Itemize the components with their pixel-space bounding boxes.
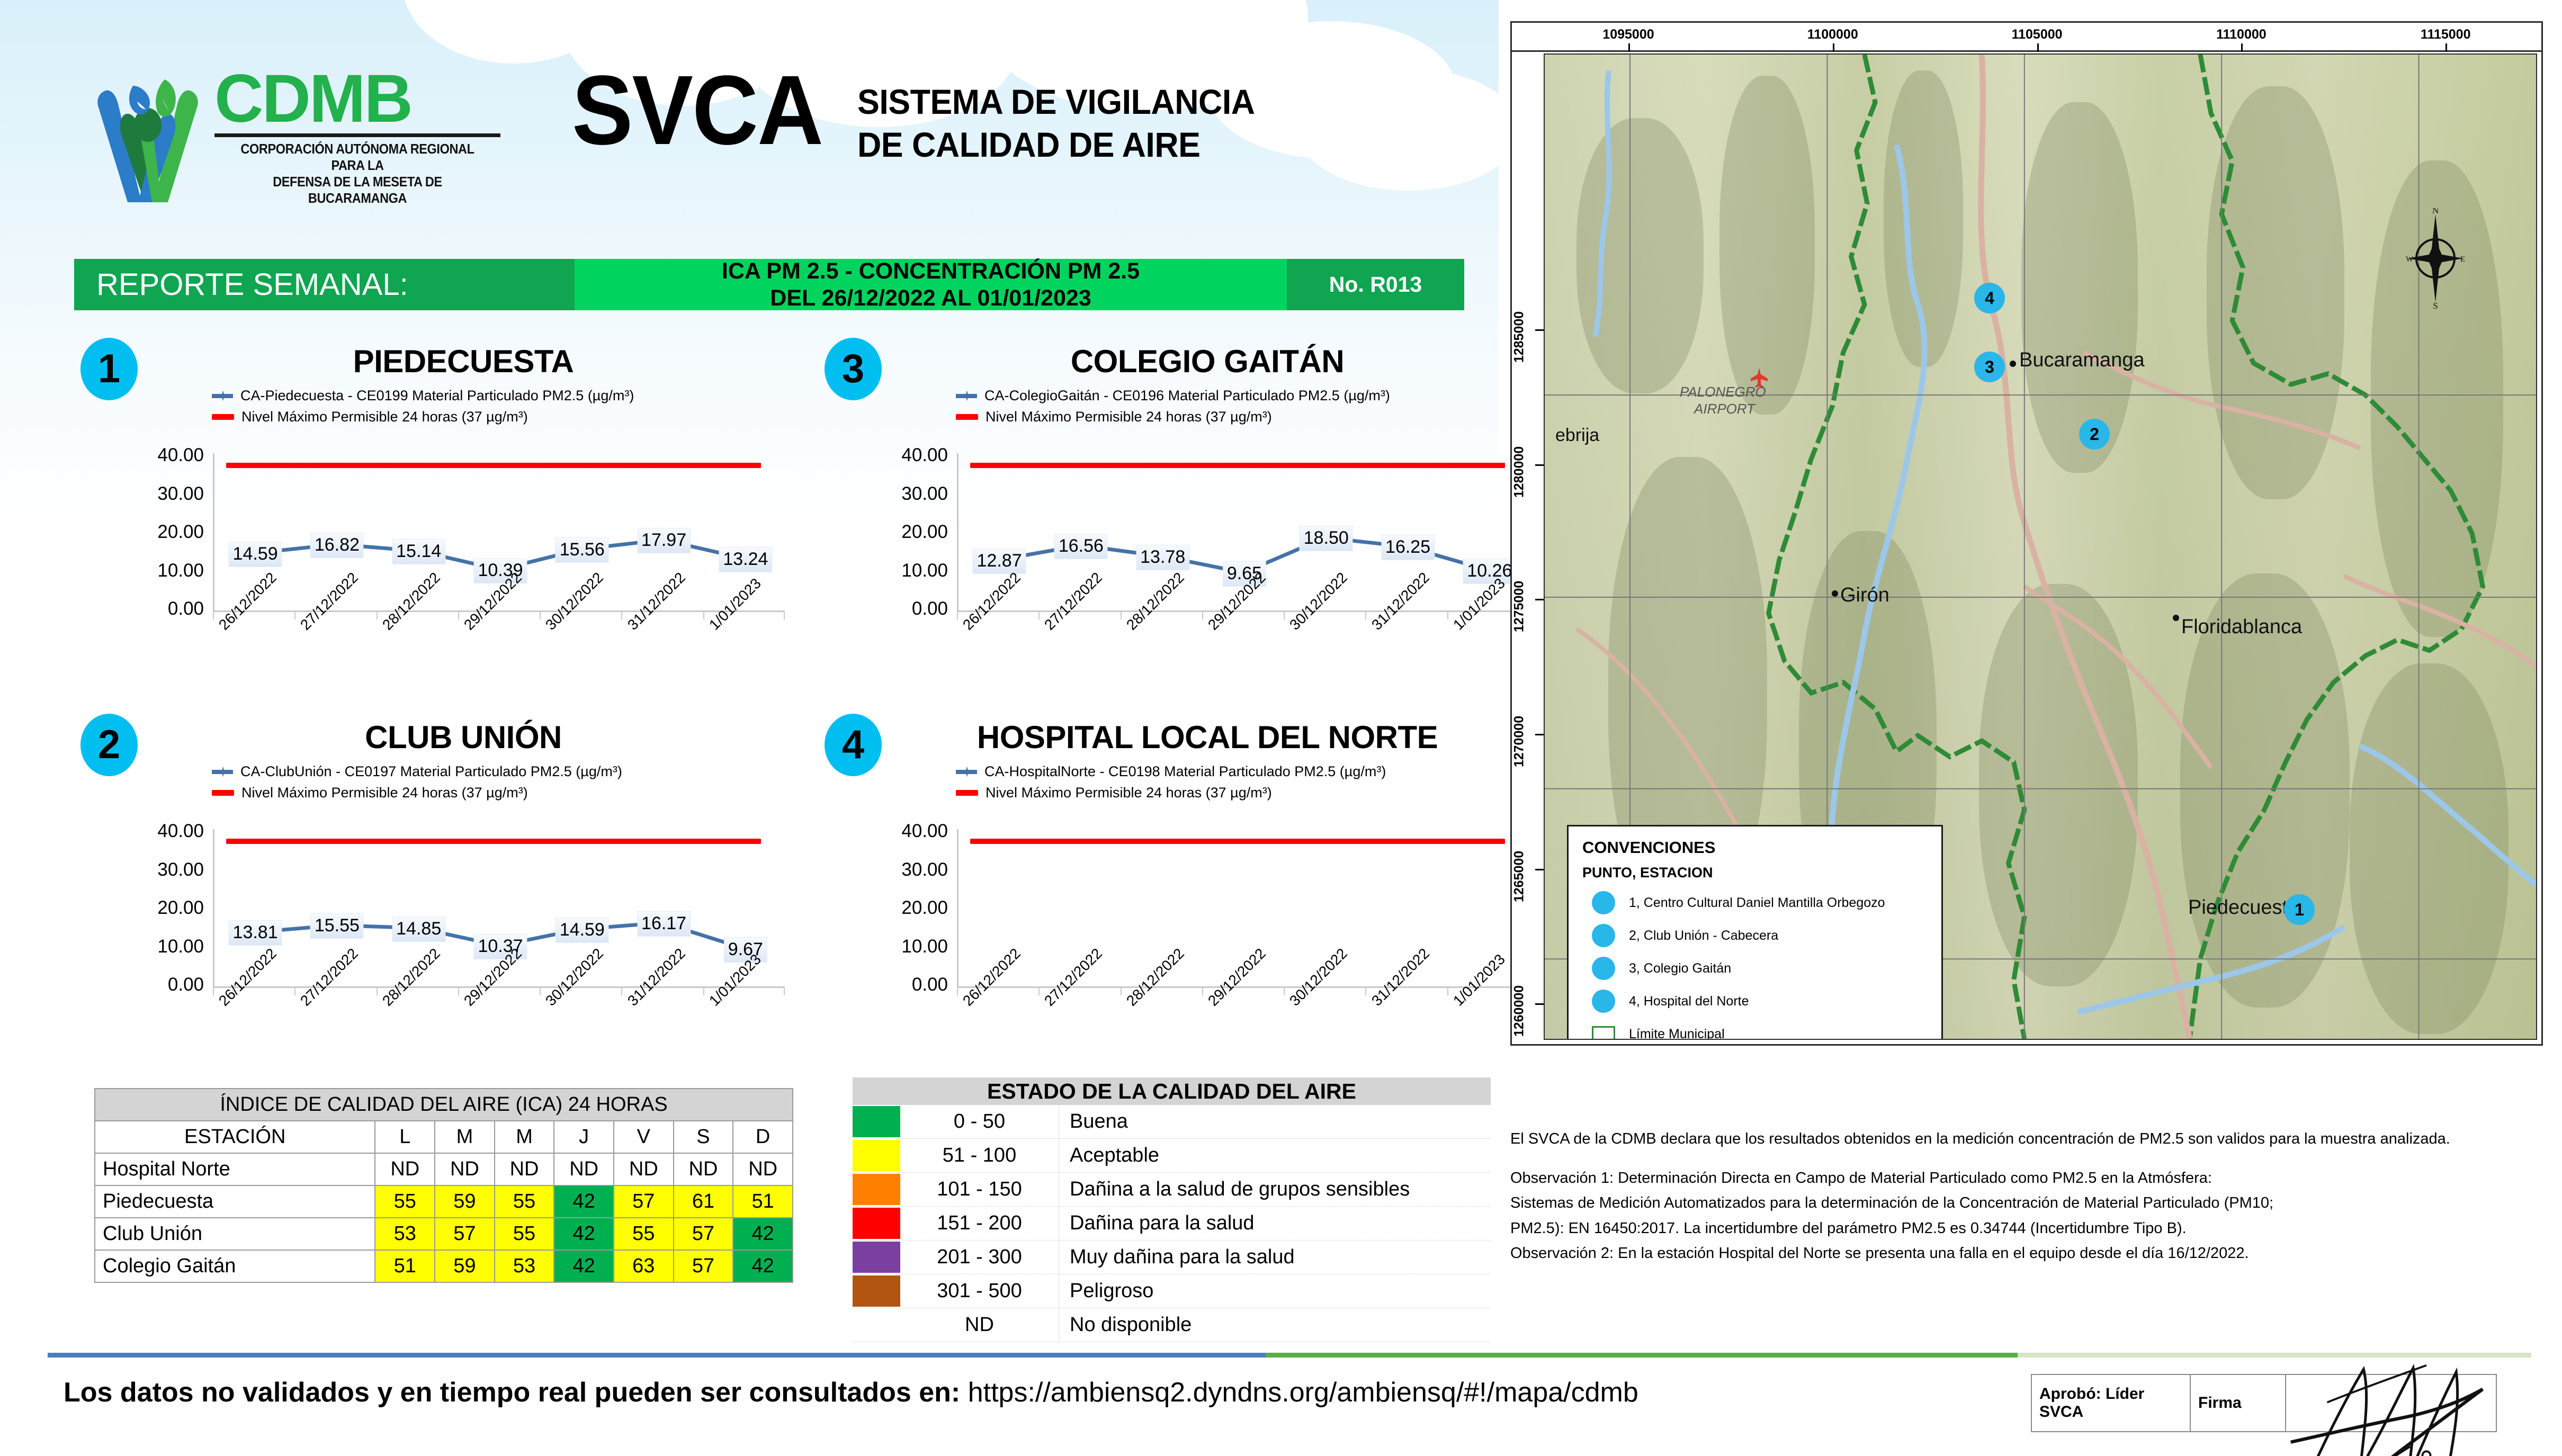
x-tick (294, 612, 295, 619)
y-tick-label: 40.00 (111, 821, 204, 842)
aq-color-swatch (853, 1309, 900, 1341)
aq-color-swatch (853, 1106, 900, 1137)
footer-note-label: Los datos no validados y en tiempo real … (64, 1377, 960, 1408)
data-label: 14.59 (556, 918, 609, 943)
logo-subtitle-line2: DEFENSA DE LA MESETA DE BUCARAMANGA (226, 174, 489, 207)
data-label: 16.17 (637, 911, 691, 937)
data-label: 16.25 (1381, 535, 1435, 560)
y-tick-label: 0.00 (111, 598, 204, 619)
ica-header-day-1: M (435, 1121, 495, 1153)
y-tick-label: 10.00 (111, 936, 204, 957)
page-header: CDMB CORPORACIÓN AUTÓNOMA REGIONAL PARA … (0, 0, 1499, 254)
observation-declaration: El SVCA de la CDMB declara que los resul… (1510, 1128, 2538, 1151)
svca-expansion-line1: SISTEMA DE VIGILANCIA (857, 80, 1255, 123)
banner-title-line1: ICA PM 2.5 - CONCENTRACIÓN PM 2.5 (722, 258, 1140, 285)
chart-y-axis-labels: 40.0030.0020.0010.000.00 (111, 821, 204, 995)
chart-legend: CA-HospitalNorte - CE0198 Material Parti… (956, 763, 1386, 806)
ica-header-day-5: S (674, 1121, 733, 1153)
map-label-piedecuesta: Piedecuesta (2188, 896, 2299, 919)
svg-text:N: N (2432, 208, 2439, 215)
map-label-bucaramanga: Bucaramanga (2019, 349, 2145, 372)
aq-range-label: 301 - 500 (900, 1274, 1059, 1308)
chart-title: HOSPITAL LOCAL DEL NORTE (903, 719, 1512, 756)
ica-cell: 42 (733, 1218, 793, 1250)
chart-y-axis-labels: 40.0030.0020.0010.000.00 (111, 445, 204, 619)
y-tick-label: 40.00 (111, 445, 204, 466)
footer-rule-blue (48, 1353, 1266, 1358)
handwritten-signature-icon (2228, 1342, 2493, 1456)
aq-legend-rows: 0 - 50Buena51 - 100Aceptable101 - 150Dañ… (853, 1105, 1491, 1342)
x-tick (1121, 612, 1122, 619)
ica-header-day-0: L (375, 1121, 435, 1153)
svca-expansion: SISTEMA DE VIGILANCIA DE CALIDAD DE AIRE (857, 80, 1255, 166)
ica-cell: 42 (554, 1185, 614, 1218)
aq-color-swatch (853, 1140, 900, 1171)
chart-title: PIEDECUESTA (159, 343, 768, 380)
ica-row-station: Piedecuesta (95, 1185, 375, 1218)
data-label: 13.81 (229, 920, 282, 946)
chart-x-axis-labels: 26/12/202227/12/202228/12/202229/12/2022… (957, 622, 1529, 696)
map-y-tick (1535, 464, 1544, 466)
banner-title: ICA PM 2.5 - CONCENTRACIÓN PM 2.5 DEL 26… (575, 259, 1287, 310)
ica-cell: 53 (375, 1218, 435, 1250)
ica-header-station: ESTACIÓN (95, 1121, 375, 1153)
chart-panel-hospital-norte: 4HOSPITAL LOCAL DEL NORTECA-HospitalNort… (813, 704, 1557, 1075)
map-y-tick-label: 1260000 (1512, 985, 1527, 1037)
chart-y-axis-labels: 40.0030.0020.0010.000.00 (855, 821, 948, 995)
map-label-palonegro: PALONEGRO (1680, 384, 1766, 400)
ica-table-body: Hospital NorteNDNDNDNDNDNDNDPiedecuesta5… (95, 1153, 793, 1282)
ica-header-day-6: D (733, 1121, 793, 1153)
ica-cell: 55 (495, 1218, 554, 1250)
chart-x-ticks (213, 988, 785, 995)
aq-range-label: 51 - 100 (900, 1139, 1059, 1172)
aq-description: Buena (1059, 1105, 1491, 1138)
map-y-tick (1535, 734, 1544, 735)
y-tick-label: 0.00 (111, 974, 204, 995)
map-x-tick (2037, 43, 2039, 52)
map-label-airport: AIRPORT (1694, 401, 1755, 417)
y-tick-label: 40.00 (855, 821, 948, 842)
map-dot-giron (1832, 590, 1838, 597)
ica-cell: ND (554, 1153, 614, 1185)
svg-text:S: S (2433, 301, 2438, 309)
legend-limit-label: Nivel Máximo Permisible 24 horas (37 µg/… (986, 409, 1272, 425)
map-legend-subtitle: PUNTO, ESTACION (1582, 865, 1941, 881)
map-x-tick (1628, 43, 1630, 52)
map-x-tick-label: 1095000 (1602, 27, 1654, 42)
x-tick (1447, 612, 1448, 619)
aq-description: Dañina a la salud de grupos sensibles (1059, 1173, 1491, 1206)
aq-description: Dañina para la salud (1059, 1207, 1491, 1240)
ica-title-row: ÍNDICE DE CALIDAD DEL AIRE (ICA) 24 HORA… (95, 1089, 793, 1121)
map-y-axis: 1285000128000012750001270000126500012600… (1512, 52, 1544, 1044)
series-marker-icon (956, 770, 977, 774)
ica-header-row: ESTACIÓNLMMJVSD (95, 1121, 793, 1153)
ica-cell: 51 (375, 1250, 435, 1282)
approver-label: Aprobó: Líder SVCA (2032, 1375, 2191, 1431)
signature-box: Aprobó: Líder SVCA Firma (2031, 1374, 2497, 1432)
svca-title-block: SVCA SISTEMA DE VIGILANCIA DE CALIDAD DE… (572, 69, 1276, 166)
ica-table-title: ÍNDICE DE CALIDAD DEL AIRE (ICA) 24 HORA… (95, 1089, 793, 1121)
table-row: Piedecuesta55595542576151 (95, 1185, 793, 1218)
legend-series-label: CA-ClubUnión - CE0197 Material Particula… (240, 763, 622, 780)
y-tick-label: 10.00 (855, 936, 948, 957)
permissible-limit-line (970, 839, 1505, 844)
ica-cell: ND (614, 1153, 674, 1185)
x-tick (1121, 988, 1122, 995)
ica-cell: 42 (733, 1250, 793, 1282)
ica-cell: 57 (674, 1250, 733, 1282)
x-tick (703, 988, 704, 995)
x-tick (784, 988, 785, 995)
x-tick (703, 612, 704, 619)
ica-row-station: Club Unión (95, 1218, 375, 1250)
x-tick (458, 988, 459, 995)
chart-badge-3: 3 (825, 338, 882, 400)
ica-header-day-2: M (495, 1121, 554, 1153)
map-x-tick-label: 1110000 (2216, 27, 2267, 42)
y-tick-label: 20.00 (111, 522, 204, 543)
table-row: Club Unión53575542555742 (95, 1218, 793, 1250)
x-tick (957, 612, 958, 619)
x-tick (294, 988, 295, 995)
map-dot-bucaramanga (2010, 361, 2016, 367)
x-tick (458, 612, 459, 619)
ica-cell: 61 (674, 1185, 733, 1218)
y-tick-label: 20.00 (111, 897, 204, 919)
map-label-giron: Girón (1840, 584, 1889, 607)
map-legend-items: 1, Centro Cultural Daniel Mantilla Orbeg… (1582, 886, 1941, 1018)
ica-cell: ND (435, 1153, 495, 1185)
map-legend-item-3: 3, Colegio Gaitán (1582, 952, 1941, 985)
x-tick (1284, 988, 1285, 995)
map-legend-title: CONVENCIONES (1582, 838, 1941, 857)
ica-cell: ND (495, 1153, 554, 1185)
ica-table-element: ÍNDICE DE CALIDAD DEL AIRE (ICA) 24 HORA… (94, 1088, 793, 1283)
aq-range-label: 0 - 50 (900, 1105, 1059, 1138)
x-tick (957, 988, 958, 995)
y-tick-label: 10.00 (111, 560, 204, 581)
observation-1-line1: Observación 1: Determinación Directa en … (1510, 1167, 2538, 1190)
y-tick-label: 30.00 (111, 859, 204, 880)
footer-note: Los datos no validados y en tiempo real … (64, 1377, 1638, 1408)
data-label: 10.26 (1463, 559, 1516, 584)
ica-header-day-4: V (614, 1121, 674, 1153)
x-tick (1447, 988, 1448, 995)
data-label: 17.97 (637, 528, 691, 553)
x-tick (1202, 612, 1203, 619)
data-label: 13.78 (1136, 545, 1189, 570)
map-x-tick-label: 1115000 (2421, 27, 2471, 42)
aq-range-label: ND (900, 1308, 1059, 1342)
y-tick-label: 30.00 (111, 483, 204, 505)
chart-plot-area: 40.0030.0020.0010.000.0013.8115.5514.851… (69, 821, 813, 1075)
ica-cell: 53 (495, 1250, 554, 1282)
map-x-tick-label: 1100000 (1807, 27, 1858, 42)
legend-row-series: CA-Piedecuesta - CE0199 Material Particu… (212, 388, 634, 404)
map-legend-item-label: 2, Club Unión - Cabecera (1629, 928, 1778, 943)
data-label: 15.56 (556, 537, 609, 563)
map-legend-conventions: CONVENCIONES PUNTO, ESTACION 1, Centro C… (1567, 825, 1943, 1040)
cdmb-logo: CDMB CORPORACIÓN AUTÓNOMA REGIONAL PARA … (82, 53, 500, 206)
y-tick-label: 20.00 (855, 897, 948, 919)
map-legend-item-label: 1, Centro Cultural Daniel Mantilla Orbeg… (1629, 895, 1885, 911)
boundary-swatch-icon (1592, 1026, 1615, 1040)
data-label: 16.82 (310, 533, 364, 558)
map-y-tick-label: 1270000 (1512, 716, 1527, 767)
ica-cell: 63 (614, 1250, 674, 1282)
ica-cell: 59 (435, 1185, 495, 1218)
y-tick-label: 0.00 (855, 598, 948, 619)
chart-legend: CA-ColegioGaitán - CE0196 Material Parti… (956, 388, 1390, 430)
footer-rule-green (1266, 1353, 2018, 1358)
map-y-tick (1535, 1003, 1544, 1005)
chart-legend: CA-ClubUnión - CE0197 Material Particula… (212, 763, 622, 806)
map-x-tick (2241, 43, 2243, 52)
chart-title: CLUB UNIÓN (159, 719, 768, 756)
banner-report-number: No. R013 (1287, 259, 1464, 310)
aq-color-swatch (853, 1242, 900, 1273)
station-dot-icon (1592, 891, 1615, 914)
station-dot-icon (1592, 990, 1615, 1013)
x-tick (1038, 612, 1040, 619)
svca-expansion-line2: DE CALIDAD DE AIRE (857, 123, 1255, 166)
series-marker-icon (212, 394, 233, 398)
cdmb-logo-text: CDMB CORPORACIÓN AUTÓNOMA REGIONAL PARA … (214, 68, 500, 207)
footer-url[interactable]: https://ambiensq2.dyndns.org/ambiensq/#!… (968, 1377, 1638, 1408)
compass-rose-icon: N S W E (2404, 208, 2467, 309)
map-pin-3[interactable]: 3 (1974, 352, 2005, 382)
footer-divider (48, 1353, 2531, 1358)
chart-x-axis-labels: 26/12/202227/12/202228/12/202229/12/2022… (957, 997, 1529, 1072)
map-label-floridablanca: Floridablanca (2181, 616, 2302, 639)
banner-report-label: REPORTE SEMANAL: (74, 259, 575, 310)
data-label: 14.85 (392, 916, 445, 942)
chart-panel-club-union: 2CLUB UNIÓNCA-ClubUnión - CE0197 Materia… (69, 704, 813, 1075)
map-legend-item-4: 4, Hospital del Norte (1582, 985, 1941, 1018)
ica-cell: 57 (614, 1185, 674, 1218)
observation-1-line2: Sistemas de Medición Automatizados para … (1510, 1192, 2538, 1215)
y-tick-label: 10.00 (855, 560, 948, 581)
map-pin-4[interactable]: 4 (1974, 283, 2005, 313)
data-label: 14.59 (229, 542, 282, 567)
legend-row-series: CA-ClubUnión - CE0197 Material Particula… (212, 763, 622, 780)
series-marker-icon (956, 394, 977, 398)
ica-cell: ND (674, 1153, 733, 1185)
map-x-tick (1833, 43, 1834, 52)
data-label: 12.87 (973, 549, 1026, 574)
chart-badge-4: 4 (825, 714, 882, 776)
chart-plot-area: 40.0030.0020.0010.000.0026/12/202227/12/… (813, 821, 1557, 1075)
legend-row-series: CA-HospitalNorte - CE0198 Material Parti… (956, 763, 1386, 780)
data-label: 18.50 (1300, 526, 1353, 551)
map-legend-item-label: 3, Colegio Gaitán (1629, 961, 1731, 976)
ica-header-day-3: J (554, 1121, 614, 1153)
aq-color-swatch (853, 1174, 900, 1205)
aq-legend-row: 101 - 150Dañina a la salud de grupos sen… (853, 1173, 1491, 1207)
aq-range-label: 151 - 200 (900, 1207, 1059, 1240)
x-tick (1038, 988, 1040, 995)
map-legend-item-label: 4, Hospital del Norte (1629, 994, 1749, 1009)
ica-cell: ND (733, 1153, 793, 1185)
x-tick (1365, 612, 1366, 619)
chart-badge-2: 2 (80, 714, 138, 776)
chart-legend: CA-Piedecuesta - CE0199 Material Particu… (212, 388, 634, 430)
aq-legend-row: 51 - 100Aceptable (853, 1139, 1491, 1173)
ica-table-head: ÍNDICE DE CALIDAD DEL AIRE (ICA) 24 HORA… (95, 1089, 793, 1153)
legend-row-limit: Nivel Máximo Permisible 24 horas (37 µg/… (956, 409, 1390, 425)
y-tick-label: 30.00 (855, 859, 948, 880)
x-tick (540, 988, 541, 995)
chart-x-ticks (957, 988, 1529, 995)
x-tick (213, 988, 214, 995)
y-tick-label: 20.00 (855, 522, 948, 543)
x-tick (784, 612, 785, 619)
observations-block: El SVCA de la CDMB declara que los resul… (1510, 1128, 2538, 1268)
aq-legend-row: NDNo disponible (853, 1308, 1491, 1342)
legend-series-label: CA-ColegioGaitán - CE0196 Material Parti… (984, 388, 1390, 404)
ica-cell: 55 (614, 1218, 674, 1250)
x-tick (1284, 612, 1285, 619)
svg-text:E: E (2460, 255, 2465, 264)
y-tick-label: 40.00 (855, 445, 948, 466)
data-label: 15.14 (392, 539, 445, 564)
aq-description: Muy dañina para la salud (1059, 1241, 1491, 1274)
map-x-tick (2445, 43, 2447, 52)
chart-x-axis-labels: 26/12/202227/12/202228/12/202229/12/2022… (213, 622, 785, 696)
chart-x-axis-labels: 26/12/202227/12/202228/12/202229/12/2022… (213, 997, 785, 1072)
aq-color-swatch (853, 1275, 900, 1307)
map-pin-1[interactable]: 1 (2284, 894, 2315, 925)
legend-row-limit: Nivel Máximo Permisible 24 horas (37 µg/… (956, 785, 1386, 801)
logo-subtitle-line1: CORPORACIÓN AUTÓNOMA REGIONAL PARA LA (226, 141, 489, 174)
data-label: 13.24 (719, 547, 772, 572)
limit-line-icon (212, 790, 234, 796)
aq-legend-row: 201 - 300Muy dañina para la salud (853, 1241, 1491, 1274)
ica-cell: 51 (733, 1185, 793, 1218)
aq-color-swatch (853, 1208, 900, 1239)
map-x-axis: 10950001100000110500011100001115000 (1512, 23, 2541, 52)
x-tick (621, 988, 622, 995)
legend-series-label: CA-Piedecuesta - CE0199 Material Particu… (240, 388, 634, 404)
ica-cell: 55 (375, 1185, 435, 1218)
aq-legend-row: 0 - 50Buena (853, 1105, 1491, 1139)
ica-cell: 42 (554, 1250, 614, 1282)
cdmb-wordmark: CDMB (214, 68, 500, 130)
table-row: Hospital NorteNDNDNDNDNDNDND (95, 1153, 793, 1185)
svca-acronym: SVCA (572, 69, 822, 152)
map-y-tick-label: 1265000 (1512, 850, 1527, 902)
chart-title: COLEGIO GAITÁN (903, 343, 1512, 380)
svg-text:W: W (2406, 255, 2414, 264)
map-canvas[interactable]: PALONEGRO AIRPORT Bucaramanga Girón Flor… (1544, 53, 2537, 1040)
observation-2: Observación 2: En la estación Hospital d… (1510, 1242, 2538, 1265)
map-label-lebrija: ebrija (1555, 425, 1599, 446)
x-tick (213, 612, 214, 619)
chart-x-ticks (213, 612, 785, 619)
x-tick (377, 988, 378, 995)
air-quality-legend: ESTADO DE LA CALIDAD DEL AIRE 0 - 50Buen… (853, 1077, 1491, 1342)
station-dot-icon (1592, 924, 1615, 947)
map-legend-item-2: 2, Club Unión - Cabecera (1582, 919, 1941, 952)
chart-x-ticks (957, 612, 1529, 619)
ica-row-station: Colegio Gaitán (95, 1250, 375, 1282)
station-dot-icon (1592, 957, 1615, 980)
map-legend-boundary-label: Límite Municipal (1629, 1027, 1725, 1040)
data-label: 15.55 (310, 913, 364, 939)
ica-cell: 42 (554, 1218, 614, 1250)
map-y-tick-label: 1285000 (1512, 311, 1527, 363)
data-label: 16.56 (1054, 534, 1108, 559)
legend-series-label: CA-HospitalNorte - CE0198 Material Parti… (984, 763, 1386, 780)
legend-limit-label: Nivel Máximo Permisible 24 horas (37 µg/… (241, 785, 528, 801)
legend-row-limit: Nivel Máximo Permisible 24 horas (37 µg/… (212, 409, 634, 425)
limit-line-icon (956, 790, 978, 796)
x-tick (377, 612, 378, 619)
x-tick (621, 612, 622, 619)
aq-legend-row: 151 - 200Dañina para la salud (853, 1207, 1491, 1241)
cdmb-logo-mark (82, 53, 214, 206)
limit-line-icon (956, 414, 978, 420)
legend-limit-label: Nivel Máximo Permisible 24 horas (37 µg/… (986, 785, 1272, 801)
map-y-tick-label: 1280000 (1512, 446, 1527, 498)
chart-y-axis-labels: 40.0030.0020.0010.000.00 (855, 445, 948, 619)
x-tick (1202, 988, 1203, 995)
ica-table: ÍNDICE DE CALIDAD DEL AIRE (ICA) 24 HORA… (94, 1088, 793, 1283)
table-row: Colegio Gaitán51595342635742 (95, 1250, 793, 1282)
legend-limit-label: Nivel Máximo Permisible 24 horas (37 µg/… (241, 409, 528, 425)
map-dot-floridablanca (2173, 615, 2179, 621)
observations-spacer (1510, 1153, 2538, 1167)
aq-description: Aceptable (1059, 1139, 1491, 1172)
aq-legend-row: 301 - 500Peligroso (853, 1274, 1491, 1308)
aq-description: Peligroso (1059, 1274, 1491, 1308)
station-location-map[interactable]: 10950001100000110500011100001115000 1285… (1510, 21, 2543, 1046)
map-pin-2[interactable]: 2 (2079, 419, 2110, 450)
ica-cell: ND (375, 1153, 435, 1185)
aq-range-label: 201 - 300 (900, 1241, 1059, 1274)
map-x-tick-label: 1105000 (2012, 27, 2063, 42)
legend-row-series: CA-ColegioGaitán - CE0196 Material Parti… (956, 388, 1390, 404)
aq-legend-title: ESTADO DE LA CALIDAD DEL AIRE (853, 1077, 1491, 1105)
chart-panel-colegio-gaitan: 3COLEGIO GAITÁNCA-ColegioGaitán - CE0196… (813, 328, 1557, 699)
map-y-tick (1535, 599, 1544, 600)
map-legend-item-1: 1, Centro Cultural Daniel Mantilla Orbeg… (1582, 886, 1941, 919)
aq-description: No disponible (1059, 1308, 1491, 1342)
legend-row-limit: Nivel Máximo Permisible 24 horas (37 µg/… (212, 785, 622, 801)
chart-panel-piedecuesta: 1PIEDECUESTACA-Piedecuesta - CE0199 Mate… (69, 328, 813, 699)
observation-1-line3: PM2.5): EN 16450:2017. La incertidumbre … (1510, 1217, 2538, 1241)
chart-plot-area: 40.0030.0020.0010.000.0012.8716.5613.789… (813, 445, 1557, 699)
y-tick-label: 30.00 (855, 483, 948, 505)
map-y-tick (1535, 329, 1544, 331)
ica-row-station: Hospital Norte (95, 1153, 375, 1185)
chart-plot-area: 40.0030.0020.0010.000.0014.5916.8215.141… (69, 445, 813, 699)
map-y-tick (1535, 869, 1544, 870)
banner-title-line2: DEL 26/12/2022 AL 01/01/2023 (770, 285, 1091, 312)
chart-badge-1: 1 (80, 338, 138, 400)
report-banner: REPORTE SEMANAL: ICA PM 2.5 - CONCENTRAC… (74, 259, 1464, 310)
ica-cell: 55 (495, 1185, 554, 1218)
y-tick-label: 0.00 (855, 974, 948, 995)
limit-line-icon (212, 414, 234, 420)
x-tick (540, 612, 541, 619)
series-marker-icon (212, 770, 233, 774)
ica-cell: 59 (435, 1250, 495, 1282)
signature-mark (2286, 1375, 2496, 1431)
x-tick (1365, 988, 1366, 995)
